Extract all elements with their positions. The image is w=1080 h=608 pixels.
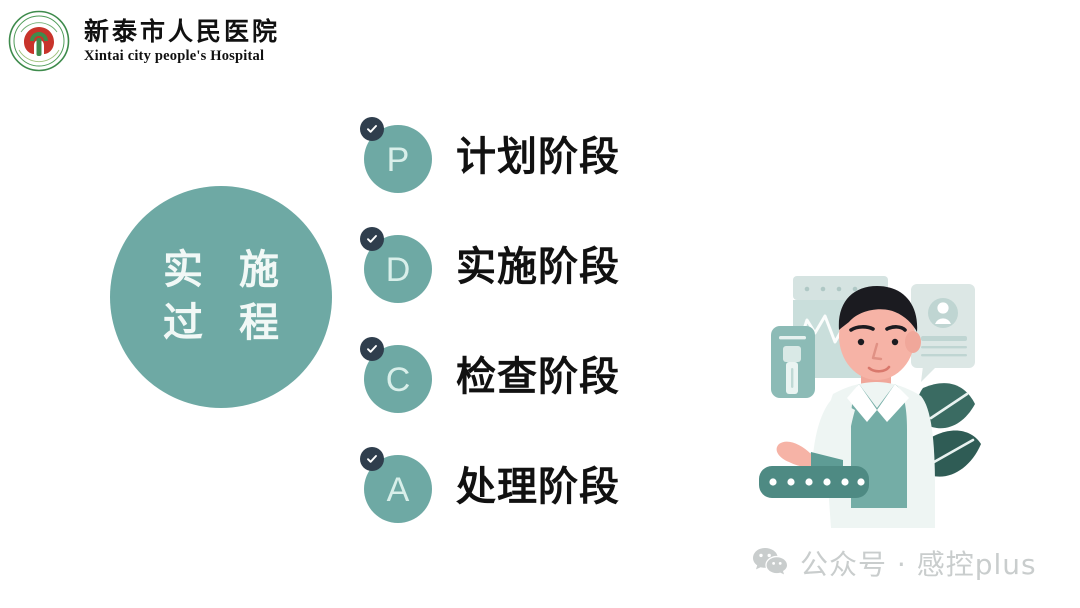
stage-letter: P (387, 143, 410, 177)
stage-label: 实施阶段 (456, 234, 620, 292)
stage-label: 处理阶段 (456, 454, 620, 512)
check-badge-icon (360, 227, 384, 251)
hub-line-2: 过 程 (152, 297, 290, 350)
hospital-brand: 新泰市人民医院 Xintai city people's Hospital (8, 10, 280, 72)
watermark: 公众号 · 感控plus (752, 543, 1037, 583)
hub-line-1: 实 施 (152, 244, 290, 297)
sanitizer-device (771, 326, 815, 398)
stage-letter: C (386, 363, 411, 397)
stage-label: 检查阶段 (456, 344, 620, 402)
stage-letter: D (386, 253, 411, 287)
hub-circle: 实 施 过 程 (110, 186, 332, 408)
hospital-name-en: Xintai city people's Hospital (84, 49, 280, 64)
avatar-icon (937, 302, 948, 313)
stage-marker: C (360, 337, 432, 409)
stage-item-p[interactable]: P 计划阶段 (360, 98, 680, 208)
stage-label: 计划阶段 (456, 124, 620, 182)
stage-item-a[interactable]: A 处理阶段 (360, 428, 680, 538)
watermark-text: 公众号 · 感控plus (800, 543, 1037, 583)
doctor-with-chart-illustration (755, 258, 1075, 548)
wechat-icon (752, 546, 788, 581)
stage-item-d[interactable]: D 实施阶段 (360, 208, 680, 318)
stage-marker: P (360, 117, 432, 189)
hospital-name-cn: 新泰市人民医院 (84, 19, 280, 44)
id-card-bubble (911, 284, 975, 382)
stage-letter: A (387, 473, 410, 507)
check-badge-icon (360, 447, 384, 471)
hospital-emblem-icon (8, 10, 70, 72)
stage-marker: A (360, 447, 432, 519)
slide-canvas: 新泰市人民医院 Xintai city people's Hospital 实 … (0, 0, 1080, 608)
stage-marker: D (360, 227, 432, 299)
pdca-stage-list: P 计划阶段 D 实施阶段 (360, 98, 680, 538)
hospital-name-block: 新泰市人民医院 Xintai city people's Hospital (84, 19, 280, 64)
stage-item-c[interactable]: C 检查阶段 (360, 318, 680, 428)
check-badge-icon (360, 337, 384, 361)
check-badge-icon (360, 117, 384, 141)
progress-bar (759, 466, 869, 498)
